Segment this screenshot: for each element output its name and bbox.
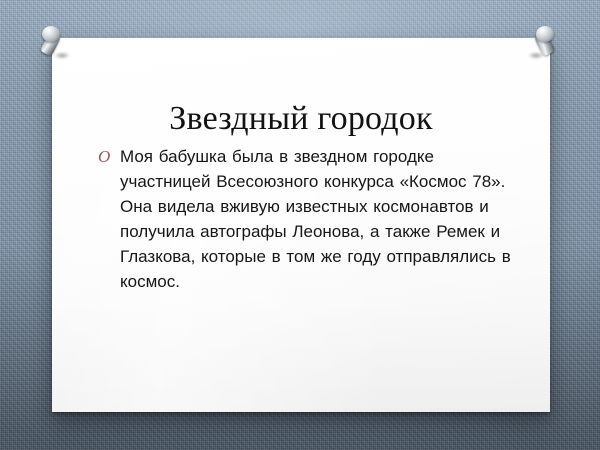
pushpin-head [42, 26, 60, 42]
pushpin-left-icon [40, 26, 74, 64]
list-item-text: Моя бабушка была в звездном городке учас… [120, 144, 528, 294]
bullet-marker-icon: O [98, 144, 110, 169]
body-bullet-list: O Моя бабушка была в звездном городке уч… [98, 144, 528, 294]
presentation-slide: Звездный городок O Моя бабушка была в зв… [0, 0, 600, 450]
paper-card: Звездный городок O Моя бабушка была в зв… [52, 38, 550, 412]
page-title: Звездный городок [52, 99, 550, 139]
pushpin-head [536, 26, 554, 42]
list-item: O Моя бабушка была в звездном городке уч… [98, 144, 528, 294]
pushpin-right-icon [524, 26, 558, 64]
pushpin-shadow [54, 52, 70, 59]
